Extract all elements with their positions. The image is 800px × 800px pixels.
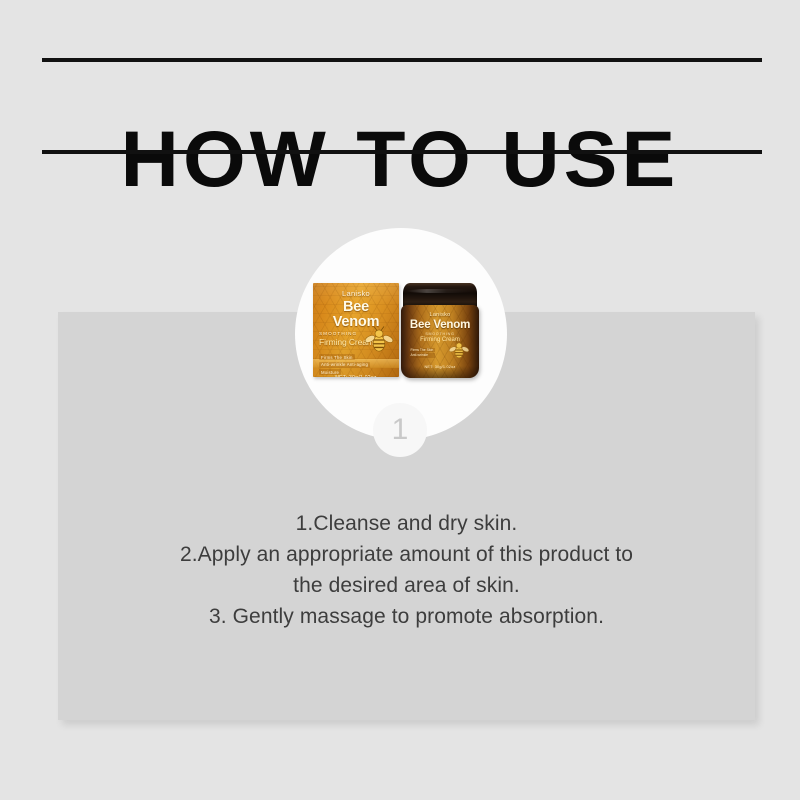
instruction-line: 3. Gently massage to promote absorption. <box>58 601 755 632</box>
product-jar: Lanisko Bee Venom SMOOTHING Firming Crea… <box>401 283 479 378</box>
instruction-line: the desired area of skin. <box>58 570 755 601</box>
carton-brand: Lanisko <box>319 289 393 298</box>
title-rule-top <box>42 58 762 62</box>
bee-icon <box>362 323 396 357</box>
list-item: Firms The Skin <box>319 354 355 360</box>
how-to-use-slide: HOW TO USE La <box>0 0 800 800</box>
page-title: HOW TO USE <box>0 111 800 207</box>
list-item: Firms The Skin <box>409 348 435 353</box>
bee-icon <box>447 338 471 362</box>
product-carton: Lanisko Bee Venom SMOOTHING Firming Crea… <box>313 283 399 377</box>
jar-benefit-list: Firms The Skin Anti-wrinkle <box>409 348 435 358</box>
jar-brand: Lanisko <box>429 312 450 318</box>
jar-body: Lanisko Bee Venom SMOOTHING Firming Crea… <box>401 305 479 378</box>
instruction-line: 2.Apply an appropriate amount of this pr… <box>58 539 755 570</box>
carton-net-weight: NET: 30g/1.02oz <box>319 375 393 377</box>
carton-benefit-list: Firms The Skin Anti-wrinkle Anti-aging M… <box>319 354 393 375</box>
jar-net-weight: NET: 30g/1.02oz <box>401 365 479 369</box>
jar-subtitle: SMOOTHING <box>425 332 454 336</box>
title-rule-bottom <box>42 150 762 154</box>
step-badge: 1 <box>373 403 427 457</box>
jar-headline: Bee Venom <box>410 319 470 331</box>
list-item: Anti-wrinkle Anti-aging <box>319 362 370 368</box>
instruction-line: 1.Cleanse and dry skin. <box>58 508 755 539</box>
list-item: Anti-wrinkle <box>409 353 435 358</box>
instructions-block: 1.Cleanse and dry skin. 2.Apply an appro… <box>58 508 755 632</box>
